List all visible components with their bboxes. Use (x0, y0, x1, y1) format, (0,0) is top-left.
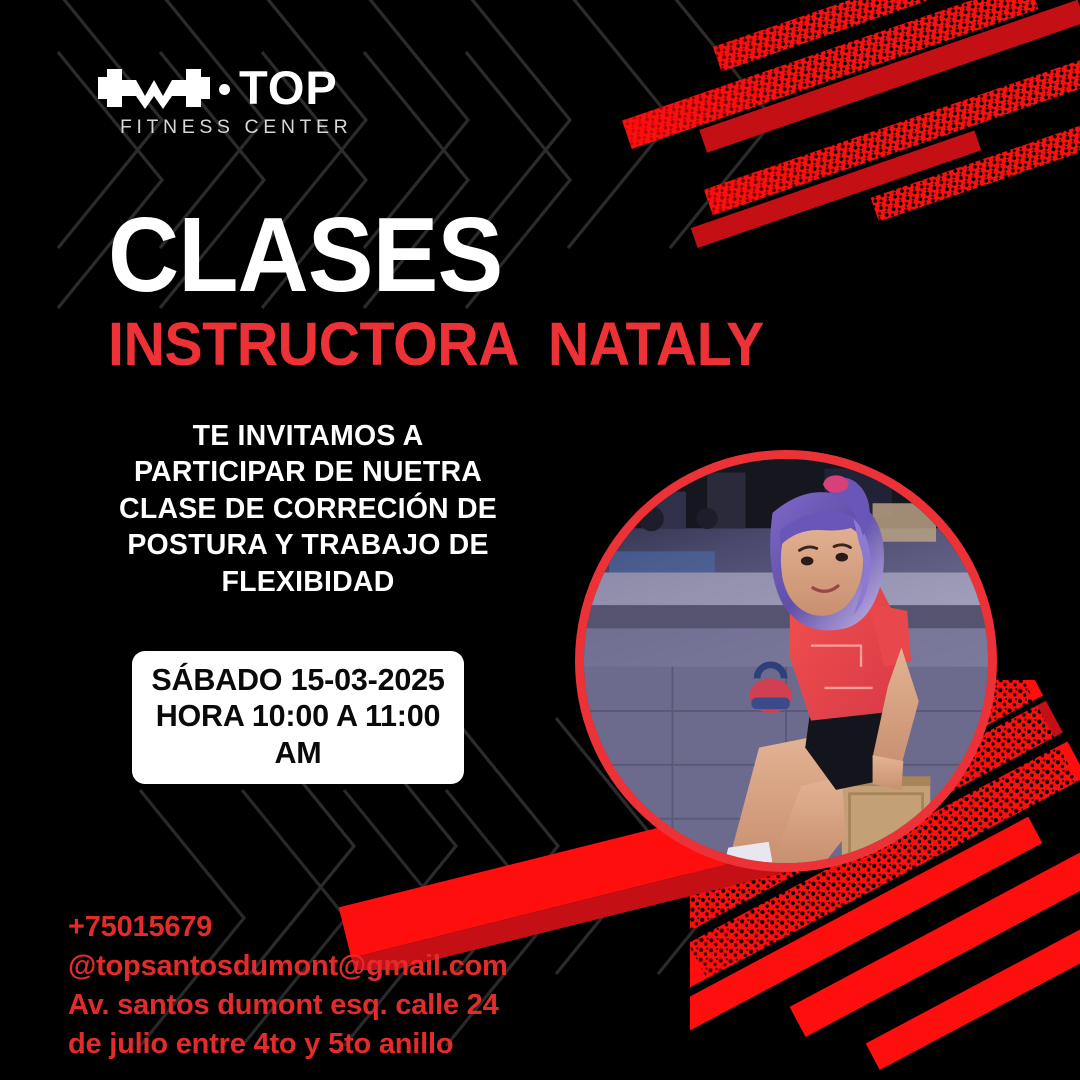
contact-address-line-1: Av. santos dumont esq. calle 24 (68, 986, 508, 1025)
contact-phone[interactable]: +75015679 (68, 908, 508, 947)
invitation-line: PARTICIPAR DE NUETRA (98, 454, 518, 490)
invitation-text: TE INVITAMOS A PARTICIPAR DE NUETRA CLAS… (98, 418, 518, 600)
brand-logo: TOP FITNESS CENTER (98, 64, 398, 139)
logo-tagline: FITNESS CENTER (120, 116, 398, 139)
dot-icon (219, 84, 230, 95)
dumbbell-icon (98, 65, 210, 111)
logo-name: TOP (239, 64, 338, 111)
contact-address-line-2: de julio entre 4to y 5to anillo (68, 1025, 508, 1064)
invitation-line: TE INVITAMOS A (98, 418, 518, 454)
event-time: HORA 10:00 A 11:00 AM (140, 698, 456, 771)
poster-canvas: TOP FITNESS CENTER CLASES INSTRUCTORA NA… (0, 0, 1080, 1080)
instructor-photo (575, 450, 997, 872)
invitation-line: POSTURA Y TRABAJO DE (98, 527, 518, 563)
invitation-line: CLASE DE CORRECIÓN DE (98, 491, 518, 527)
contact-block: +75015679 @topsantosdumont@gmail.com Av.… (68, 908, 508, 1063)
date-time-badge: SÁBADO 15-03-2025 HORA 10:00 A 11:00 AM (132, 651, 464, 784)
headline-group: CLASES INSTRUCTORA NATALY (108, 205, 806, 375)
page-subtitle: INSTRUCTORA NATALY (108, 313, 764, 375)
contact-email[interactable]: @topsantosdumont@gmail.com (68, 947, 508, 986)
event-date: SÁBADO 15-03-2025 (140, 662, 456, 698)
page-title: CLASES (108, 205, 757, 307)
invitation-line: FLEXIBIDAD (98, 564, 518, 600)
